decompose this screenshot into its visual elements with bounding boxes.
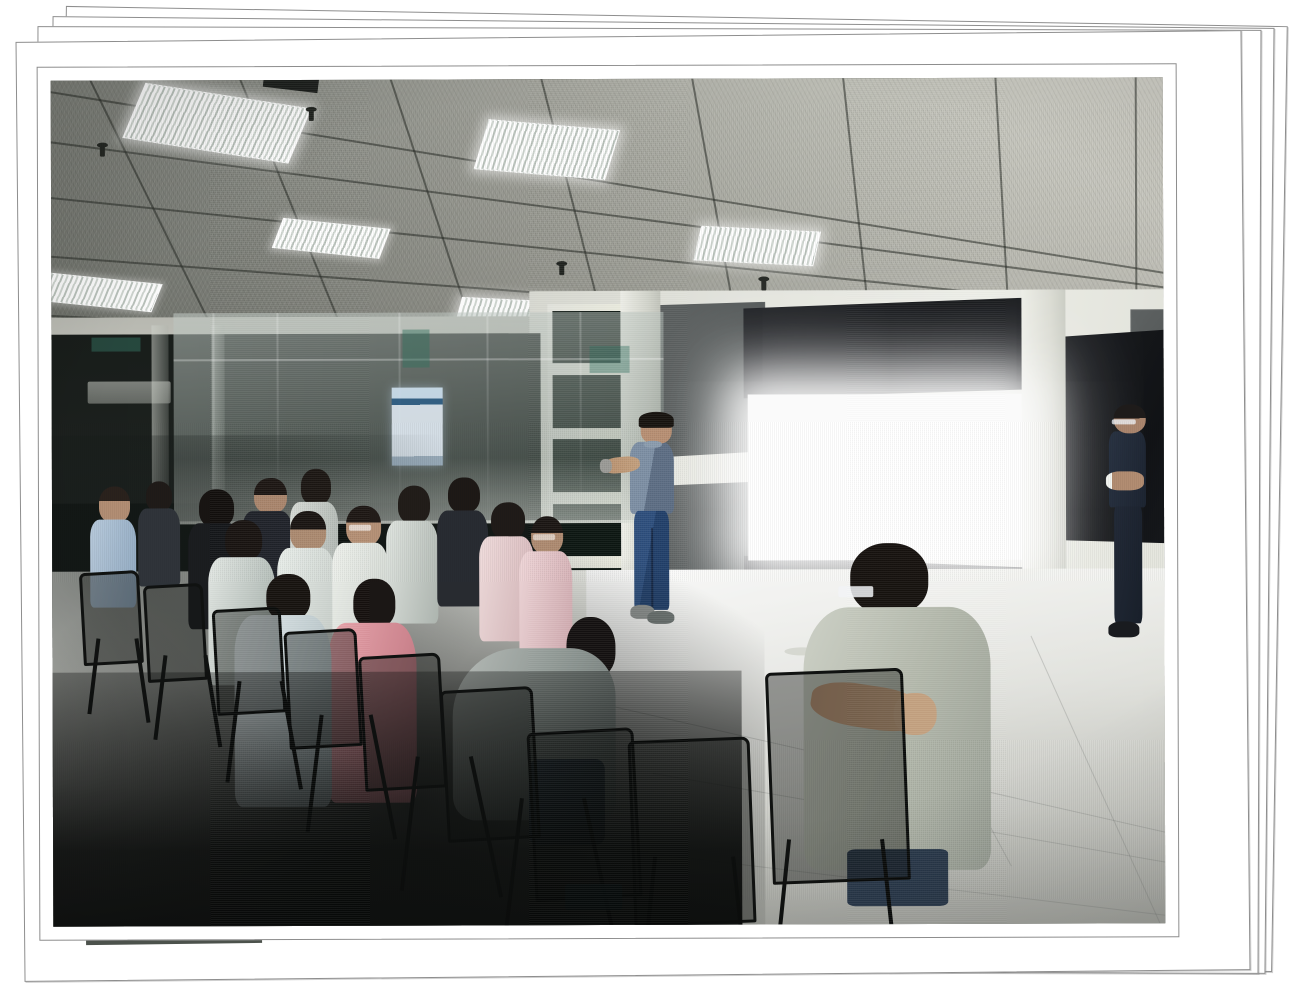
audience-body [138, 509, 181, 586]
observer-legs [1114, 506, 1143, 624]
photo-card-front[interactable] [37, 63, 1180, 941]
photo-viewer-canvas [0, 0, 1302, 983]
audience-head [301, 469, 331, 505]
folding-chair [79, 570, 144, 666]
sprinkler-head [309, 110, 314, 121]
observer-glasses [1112, 419, 1136, 424]
sprinkler-head [100, 145, 105, 156]
observer-torso [1109, 431, 1146, 507]
audience-head [850, 543, 929, 614]
green-reflection-patch [403, 330, 430, 367]
audience-head [353, 579, 395, 628]
audience-glasses [349, 524, 371, 530]
green-reflection-patch [590, 346, 630, 373]
audience-head [448, 477, 479, 513]
acoustic-panel-black [743, 298, 1026, 399]
audience-glasses [534, 534, 556, 540]
audience-head [290, 511, 326, 551]
green-reflection-patch [92, 338, 141, 352]
audience-head [225, 520, 262, 560]
audience-head [99, 487, 130, 523]
observer-shoe [1108, 621, 1139, 637]
observer-crossed-arms [1106, 471, 1143, 491]
audience-head [398, 486, 431, 524]
foreground-shadow [51, 671, 743, 927]
ceiling-light-fixture [693, 226, 821, 267]
projection-screen[interactable] [748, 394, 1022, 561]
audience-member [136, 481, 187, 583]
standing-observer [1104, 404, 1165, 650]
sprinkler-head [559, 265, 564, 276]
folding-chair [143, 583, 208, 683]
presenter-hair [639, 412, 675, 428]
audience-glasses [838, 586, 873, 597]
audience-head [254, 478, 287, 514]
audience-head [146, 481, 173, 512]
photograph [51, 77, 1166, 926]
sprinkler-head [761, 280, 766, 291]
